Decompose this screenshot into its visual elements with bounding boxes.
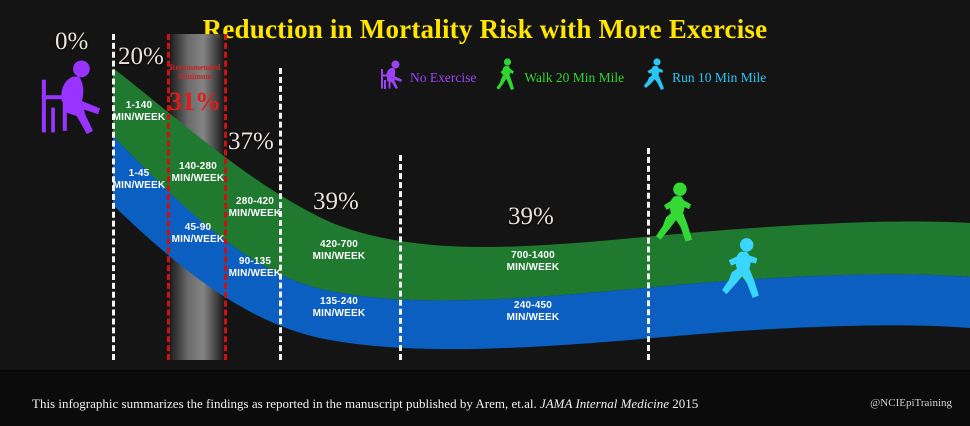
walk-range-1: 1-140: [126, 100, 153, 111]
footnote-text: This infographic summarizes the findings…: [32, 396, 537, 411]
walk-range-5: 700-1400: [511, 250, 555, 261]
no-exercise-figure: [42, 60, 100, 133]
footnote-year: 2015: [672, 396, 698, 411]
divider-line-4: [647, 148, 650, 360]
walk-unit-2: MIN/WEEK: [172, 173, 225, 184]
recommended-minimum-callout: Recommended Minimum 31%: [166, 63, 224, 117]
walk-range-4: 420-700: [320, 239, 358, 250]
walk-range-3: 280-420: [236, 196, 274, 207]
recommended-minimum-line1: Recommended: [170, 63, 221, 72]
run-unit-5: MIN/WEEK: [507, 312, 560, 323]
run-band-label-3: 90-135 MIN/WEEK: [222, 256, 288, 280]
walk-band-label-4: 420-700 MIN/WEEK: [306, 239, 372, 263]
run-band-label-5: 240-450 MIN/WEEK: [498, 300, 568, 324]
run-unit-1: MIN/WEEK: [113, 180, 166, 191]
run-unit-2: MIN/WEEK: [172, 234, 225, 245]
walk-unit-4: MIN/WEEK: [313, 251, 366, 262]
footnote: This infographic summarizes the findings…: [32, 396, 698, 412]
social-handle: @NCIEpiTraining: [870, 397, 952, 409]
run-range-3: 90-135: [239, 256, 271, 267]
walk-band-label-5: 700-1400 MIN/WEEK: [496, 250, 570, 274]
percent-label-31: 31%: [166, 87, 224, 117]
run-range-2: 45-90: [185, 222, 212, 233]
walk-band-label-2: 140-280 MIN/WEEK: [165, 161, 231, 185]
percent-label-20: 20%: [118, 43, 164, 71]
run-range-1: 1-45: [129, 168, 150, 179]
run-band-label-1: 1-45 MIN/WEEK: [108, 168, 170, 192]
run-band-label-2: 45-90 MIN/WEEK: [166, 222, 230, 246]
walk-range-2: 140-280: [179, 161, 217, 172]
run-range-5: 240-450: [514, 300, 552, 311]
run-range-4: 135-240: [320, 296, 358, 307]
walk-band-label-1: 1-140 MIN/WEEK: [108, 100, 170, 124]
recommended-minimum-line2: Minimum: [178, 72, 212, 81]
divider-line-1: [112, 34, 115, 360]
walking-figure: [656, 183, 692, 242]
footnote-journal: JAMA Internal Medicine: [540, 396, 669, 411]
walk-unit-1: MIN/WEEK: [113, 112, 166, 123]
walk-band-label-3: 280-420 MIN/WEEK: [222, 196, 288, 220]
walk-unit-5: MIN/WEEK: [507, 262, 560, 273]
infographic-root: Reduction in Mortality Risk with More Ex…: [0, 0, 970, 426]
divider-line-3: [399, 155, 402, 360]
percent-label-39-first: 39%: [313, 188, 359, 216]
run-unit-4: MIN/WEEK: [313, 308, 366, 319]
run-unit-3: MIN/WEEK: [229, 268, 282, 279]
walk-unit-3: MIN/WEEK: [229, 208, 282, 219]
percent-label-39-second: 39%: [508, 203, 554, 231]
recommended-minimum-label: Recommended Minimum: [166, 63, 224, 81]
percent-label-0: 0%: [55, 28, 88, 56]
run-band-label-4: 135-240 MIN/WEEK: [306, 296, 372, 320]
percent-label-37: 37%: [228, 128, 274, 156]
